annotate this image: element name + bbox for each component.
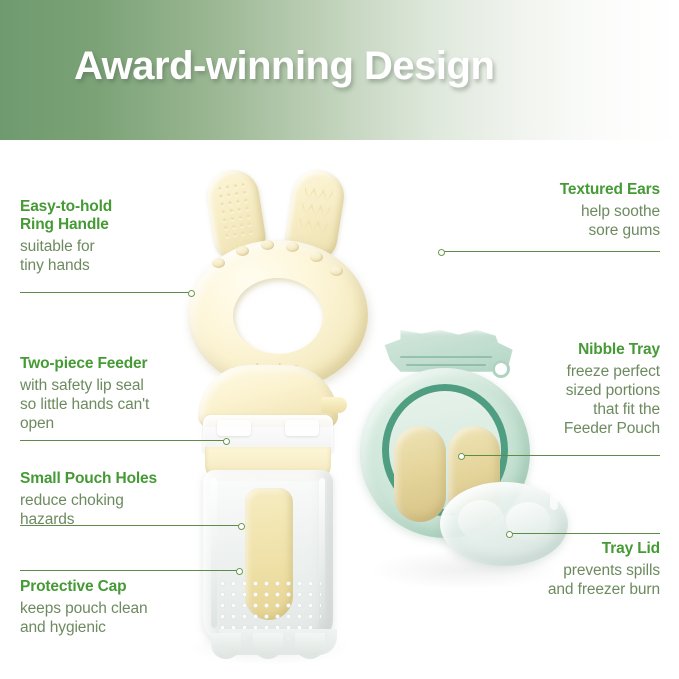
- callout-heading: Easy-to-hold: [20, 198, 225, 216]
- leader-line-protective-cap: [20, 570, 238, 571]
- leader-line-ring-handle: [20, 292, 190, 293]
- callout-body: open: [20, 414, 235, 433]
- callout-textured-ears: Textured Ears help soothe sore gums: [460, 181, 660, 240]
- callout-body: freeze perfect: [470, 362, 660, 381]
- collar-tab: [285, 420, 319, 436]
- ring-bump: [236, 246, 249, 256]
- infographic-root: Award-winning Design haak: [0, 0, 679, 679]
- callout-body: hazards: [20, 510, 235, 529]
- callout-body: sized portions: [470, 381, 660, 400]
- callout-body: tiny hands: [20, 256, 225, 275]
- lid-notch: [550, 494, 558, 510]
- feeder-spout-tab: [321, 397, 347, 413]
- callout-heading: Protective Cap: [20, 578, 235, 596]
- leader-line-tray-lid: [512, 533, 660, 534]
- callout-heading: Ring Handle: [20, 216, 225, 234]
- leader-line-textured-ears: [443, 251, 660, 252]
- header-banner: Award-winning Design: [0, 0, 679, 140]
- callout-heading: Two-piece Feeder: [20, 355, 235, 373]
- callout-body: prevents spills: [460, 561, 660, 580]
- leader-dot-ring-handle: [188, 290, 195, 297]
- callout-body: Feeder Pouch: [470, 419, 660, 438]
- lid-bubble: [458, 500, 504, 540]
- callout-tray-lid: Tray Lid prevents spills and freezer bur…: [460, 540, 660, 599]
- callout-body: reduce choking: [20, 491, 235, 510]
- callout-body: with safety lip seal: [20, 376, 235, 395]
- leader-dot-textured-ears: [438, 249, 445, 256]
- zigzag-texture-2: [301, 202, 331, 218]
- leader-dot-protective-cap: [236, 568, 243, 575]
- ear-right-texture: [293, 178, 338, 245]
- callout-small-pouch-holes: Small Pouch Holes reduce choking hazards: [20, 470, 235, 529]
- page-title: Award-winning Design: [74, 44, 494, 89]
- callout-body: suitable for: [20, 237, 225, 256]
- zigzag-texture-3: [299, 218, 329, 234]
- callout-protective-cap: Protective Cap keeps pouch clean and hyg…: [20, 578, 235, 637]
- leader-dot-tray-lid: [506, 531, 513, 538]
- ring-handle-opening: [233, 278, 323, 354]
- callout-body: keeps pouch clean: [20, 599, 235, 618]
- callout-body: that fit the: [470, 400, 660, 419]
- ring-bump: [310, 252, 323, 262]
- leader-dot-small-pouch-holes: [238, 523, 245, 530]
- callout-body: sore gums: [460, 221, 660, 240]
- callout-nibble-tray: Nibble Tray freeze perfect sized portion…: [470, 341, 660, 438]
- ring-bump: [261, 240, 274, 250]
- leader-dot-two-piece-feeder: [223, 438, 230, 445]
- callout-heading: Nibble Tray: [470, 341, 660, 359]
- callout-body: and freezer burn: [460, 580, 660, 599]
- callout-heading: Textured Ears: [460, 181, 660, 199]
- ring-bump: [330, 266, 343, 276]
- ring-bump: [286, 242, 299, 252]
- callout-body: help soothe: [460, 202, 660, 221]
- callout-heading: Tray Lid: [460, 540, 660, 558]
- callout-body: and hygienic: [20, 618, 235, 637]
- leader-dot-nibble-tray: [458, 453, 465, 460]
- callout-easy-to-hold-ring-handle: Easy-to-hold Ring Handle suitable for ti…: [20, 198, 225, 275]
- zigzag-texture-1: [304, 186, 334, 202]
- frozen-portion: [394, 426, 446, 522]
- callout-body: so little hands can't: [20, 395, 235, 414]
- leader-line-nibble-tray: [463, 455, 660, 456]
- callout-heading: Small Pouch Holes: [20, 470, 235, 488]
- callout-two-piece-feeder: Two-piece Feeder with safety lip seal so…: [20, 355, 235, 433]
- leader-line-two-piece-feeder: [20, 440, 225, 441]
